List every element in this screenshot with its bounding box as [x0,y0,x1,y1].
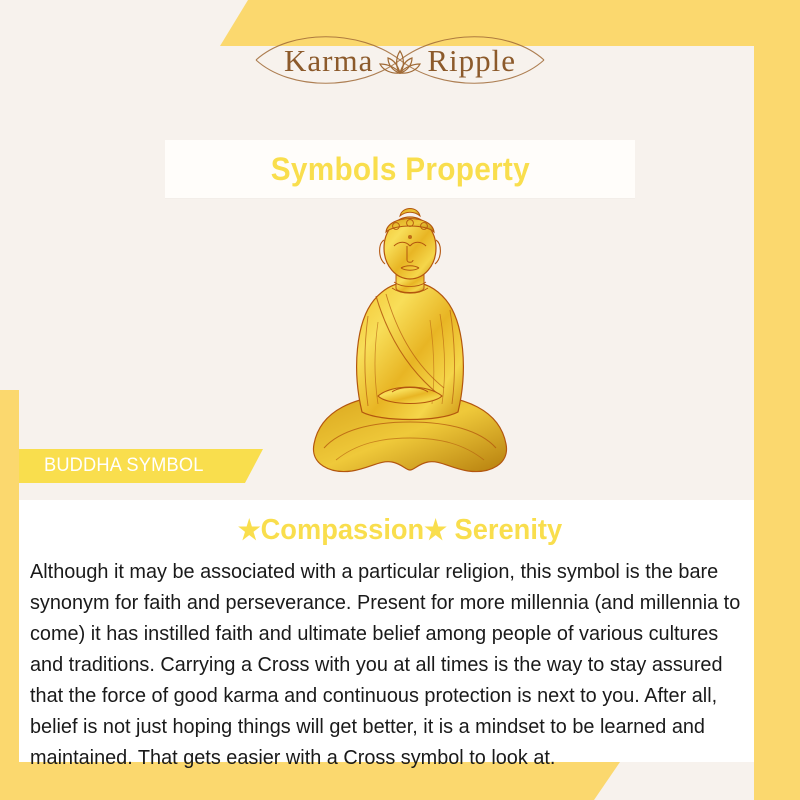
ribbon-buddha-symbol: BUDDHA SYMBOL [19,449,263,483]
decor-right-yellow-bar [754,46,800,800]
page-title: Symbols Property [270,151,529,188]
trait-compassion: Compassion [261,514,425,546]
golden-buddha-icon [300,198,520,488]
decor-top-yellow-band [220,0,800,46]
trait-line: ★Compassion★ Serenity [24,514,776,547]
star-icon-left: ★ [238,515,261,545]
ribbon-label: BUDDHA SYMBOL [19,455,204,477]
buddha-illustration [300,198,520,488]
decor-left-yellow-bar [0,390,19,800]
lotus-icon [377,45,423,77]
star-icon-right: ★ [424,515,447,545]
trait-serenity: Serenity [455,514,563,546]
title-banner: Symbols Property [165,140,635,198]
brand-logo-inner: Karma Ripple [284,44,516,76]
brand-word-ripple: Ripple [427,45,516,76]
poster-canvas: Karma Ripple Symbols Property [0,0,800,800]
body-paragraph: Although it may be associated with a par… [30,556,746,773]
brand-word-karma: Karma [284,45,373,76]
brand-logo: Karma Ripple [0,44,800,76]
